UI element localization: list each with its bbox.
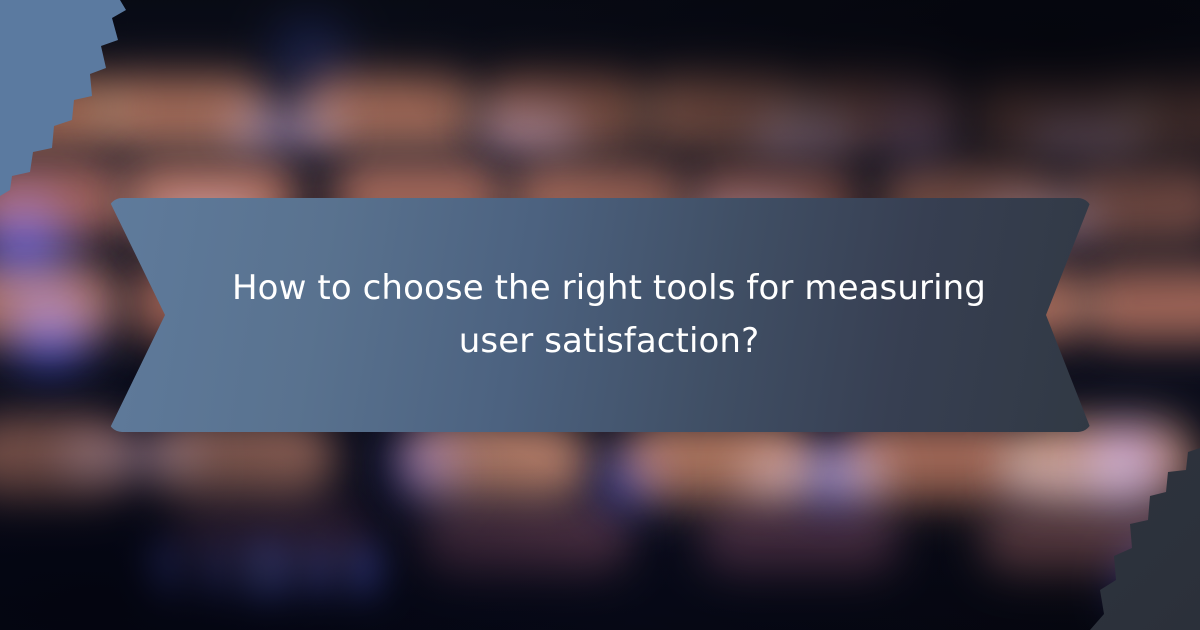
title-banner-inner: How to choose the right tools for measur… xyxy=(191,262,1009,367)
page-title: How to choose the right tools for measur… xyxy=(209,262,1009,367)
blue-glow xyxy=(270,10,350,90)
underglow-light xyxy=(345,545,379,600)
keycap-highlight xyxy=(1030,110,1140,150)
keycap-highlight xyxy=(480,108,580,146)
blue-glow xyxy=(1090,430,1160,500)
page-title-line-2: user satisfaction? xyxy=(459,321,759,361)
keycap-blob xyxy=(700,505,900,575)
blue-glow xyxy=(10,290,90,370)
key-row xyxy=(0,70,1200,144)
blue-glow xyxy=(395,440,455,500)
title-banner: How to choose the right tools for measur… xyxy=(108,198,1092,432)
underglow-light xyxy=(252,545,296,600)
poster-canvas: How to choose the right tools for measur… xyxy=(0,0,1200,630)
blue-glow xyxy=(805,450,863,508)
keycap-blob xyxy=(1080,262,1200,342)
blue-glow xyxy=(600,455,655,510)
page-title-line-1: How to choose the right tools for measur… xyxy=(232,268,986,308)
keycap-highlight xyxy=(60,440,200,482)
keycap-highlight xyxy=(230,105,340,145)
blue-glow xyxy=(880,90,950,160)
keycap-blob xyxy=(420,505,630,575)
keycap-highlight xyxy=(755,112,860,150)
underglow-light xyxy=(200,545,230,600)
underglow-light xyxy=(150,545,184,600)
underglow-light xyxy=(302,545,334,600)
